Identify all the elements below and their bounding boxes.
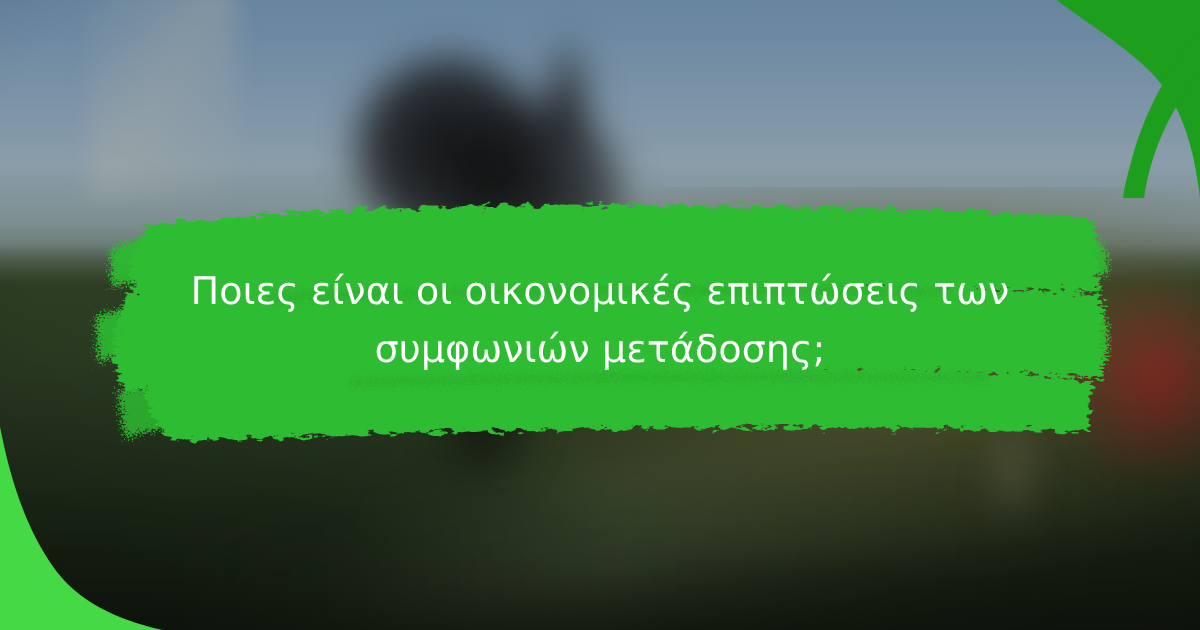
share-card: Ποιες είναι οι οικονομικές επιπτώσεις τω… [0,0,1200,630]
headline-text: Ποιες είναι οι οικονομικές επιπτώσεις τω… [150,262,1050,378]
